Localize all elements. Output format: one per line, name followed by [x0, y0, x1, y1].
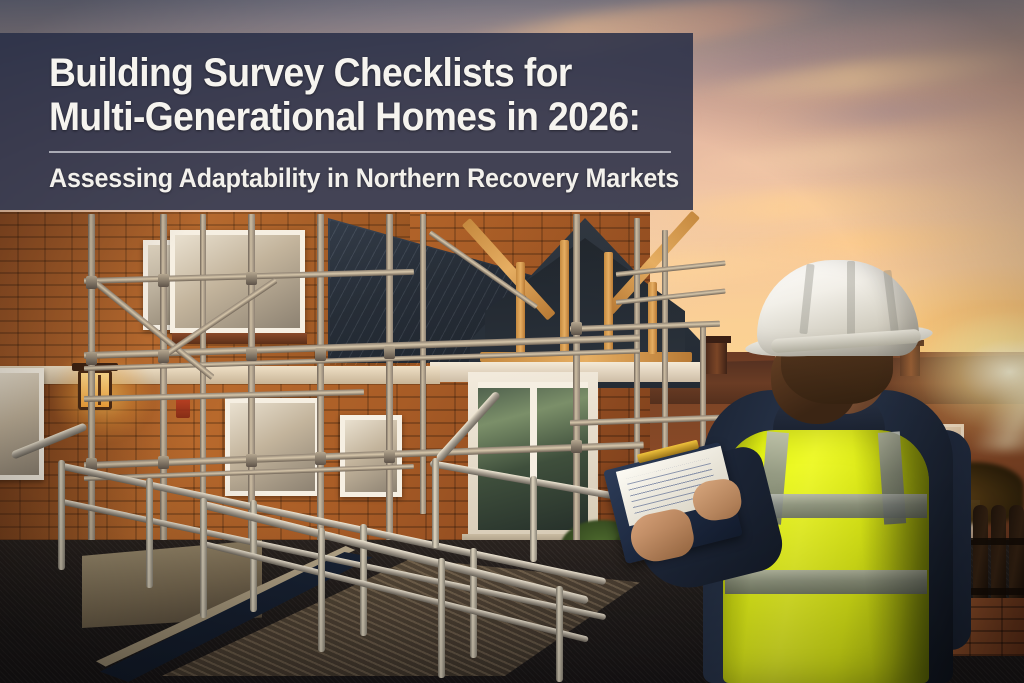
- title-divider: [49, 151, 671, 153]
- step-handrail-post: [432, 458, 439, 548]
- title-card: Building Survey Checklists for Multi-Gen…: [0, 33, 693, 210]
- title-line-1: Building Survey Checklists for: [49, 51, 627, 96]
- handrail-post: [438, 558, 445, 678]
- handrail-post: [318, 528, 325, 652]
- house-window: [225, 398, 320, 496]
- handrail-post: [146, 478, 153, 588]
- page-subtitle: Assessing Adaptability in Northern Recov…: [49, 163, 627, 194]
- step-handrail-post: [530, 476, 537, 562]
- hard-hat-rib: [847, 261, 855, 335]
- handrail-post: [556, 586, 563, 682]
- page-title: Building Survey Checklists for Multi-Gen…: [49, 51, 627, 141]
- handrail-post: [200, 498, 207, 618]
- house-window: [0, 368, 44, 480]
- handrail-post: [58, 460, 65, 570]
- surveyor: [595, 240, 1024, 683]
- wall-lantern: [78, 370, 112, 410]
- house-window-bay: [170, 230, 305, 333]
- handrail-post: [470, 548, 477, 658]
- cloud-streak: [689, 129, 1020, 178]
- hero-banner: Building Survey Checklists for Multi-Gen…: [0, 0, 1024, 683]
- title-line-2: Multi-Generational Homes in 2026:: [49, 95, 627, 140]
